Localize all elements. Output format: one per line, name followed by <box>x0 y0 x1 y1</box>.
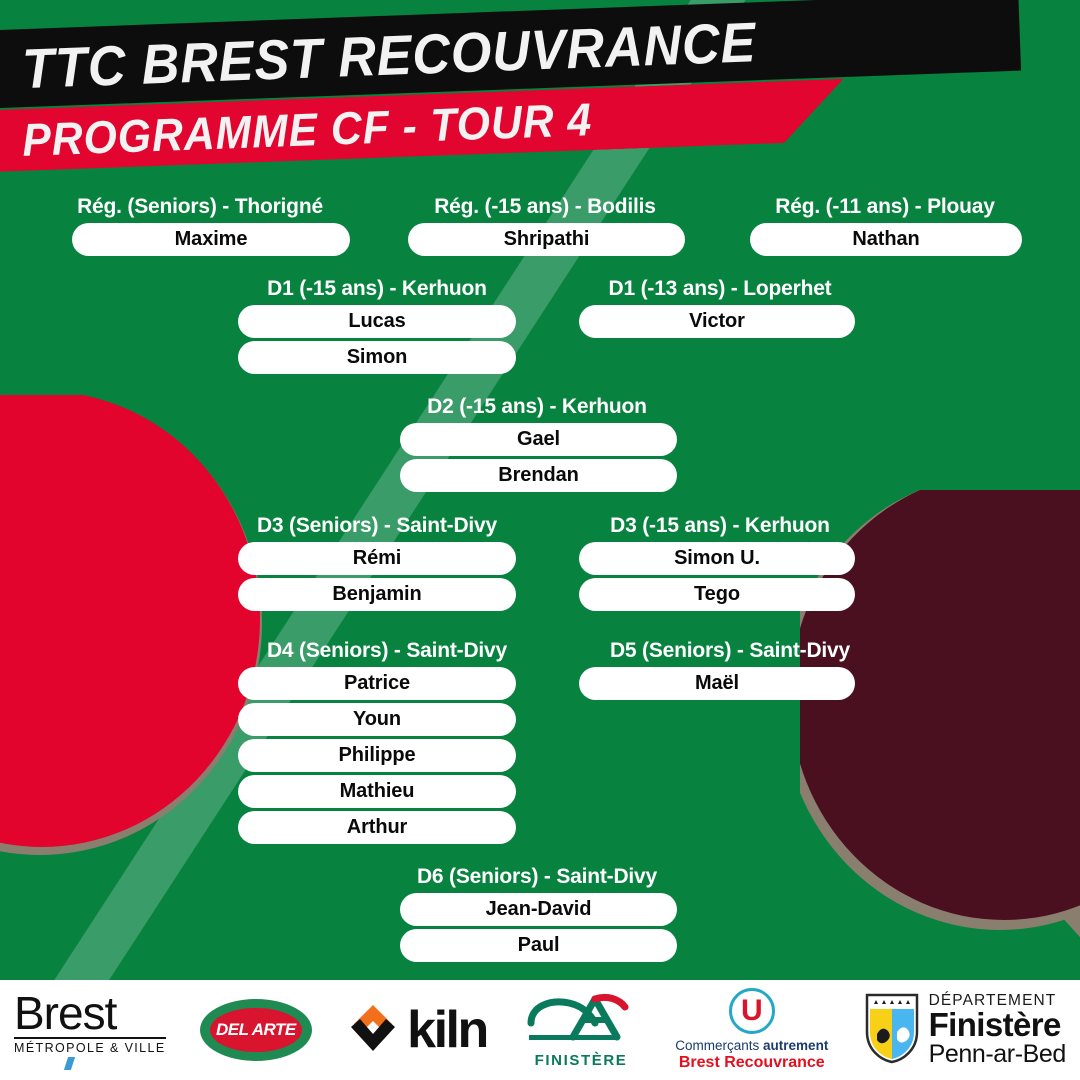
group-title: D1 (-15 ans) - Kerhuon <box>222 278 532 299</box>
sponsor-logo-kiln[interactable]: kiln <box>346 1000 487 1060</box>
finistere-wordmark: DÉPARTEMENT Finistère Penn-ar-Bed <box>929 993 1066 1068</box>
brest-wordmark: Brest <box>14 990 116 1036</box>
player-pill[interactable]: Benjamin <box>238 578 516 611</box>
group-d2-15ans-kerhuon: D2 (-15 ans) - Kerhuon Gael Brendan <box>382 396 692 495</box>
kiln-chevron-icon <box>346 1003 400 1057</box>
group-d5-seniors-saint-divy: D5 (Seniors) - Saint-Divy Maël <box>565 640 895 703</box>
player-pill[interactable]: Simon <box>238 341 516 374</box>
sponsor-logo-credit-agricole[interactable]: FINISTÈRE <box>521 993 641 1068</box>
player-pill[interactable]: Jean-David <box>400 893 677 926</box>
player-pill[interactable]: Brendan <box>400 459 677 492</box>
group-title: Rég. (-15 ans) - Bodilis <box>390 196 700 217</box>
super-u-tagline-bold: autrement <box>763 1038 828 1053</box>
player-pill[interactable]: Youn <box>238 703 516 736</box>
sponsor-bar: Brest MÉTROPOLE & VILLE DEL ARTE kiln <box>0 980 1080 1080</box>
group-title: D3 (Seniors) - Saint-Divy <box>222 515 532 536</box>
player-pill[interactable]: Victor <box>579 305 855 338</box>
finistere-line-name: Finistère <box>929 1008 1066 1042</box>
player-pill[interactable]: Mathieu <box>238 775 516 808</box>
group-reg-15ans-bodilis: Rég. (-15 ans) - Bodilis Shripathi <box>390 196 700 259</box>
group-d3-15ans-kerhuon: D3 (-15 ans) - Kerhuon Simon U. Tego <box>565 515 875 614</box>
finistere-line-breton: Penn-ar-Bed <box>929 1042 1066 1068</box>
player-pill[interactable]: Maël <box>579 667 855 700</box>
group-reg-seniors-thorigne: Rég. (Seniors) - Thorigné Maxime <box>50 196 350 259</box>
group-title: D2 (-15 ans) - Kerhuon <box>382 396 692 417</box>
credit-agricole-subtitle: FINISTÈRE <box>535 1053 628 1068</box>
player-pill[interactable]: Nathan <box>750 223 1022 256</box>
super-u-tagline: Commerçants autrement <box>675 1038 828 1054</box>
group-reg-11ans-plouay: Rég. (-11 ans) - Plouay Nathan <box>730 196 1040 259</box>
del-arte-oval-icon: DEL ARTE <box>200 999 312 1061</box>
sponsor-logo-super-u[interactable]: U Commerçants autrement Brest Recouvranc… <box>675 988 828 1072</box>
group-d3-seniors-saint-divy: D3 (Seniors) - Saint-Divy Rémi Benjamin <box>222 515 532 614</box>
player-pill[interactable]: Rémi <box>238 542 516 575</box>
finistere-coat-of-arms-icon <box>863 992 921 1069</box>
del-arte-wordmark: DEL ARTE <box>210 1008 302 1052</box>
sponsor-logo-departement-finistere[interactable]: DÉPARTEMENT Finistère Penn-ar-Bed <box>863 992 1066 1069</box>
group-d4-seniors-saint-divy: D4 (Seniors) - Saint-Divy Patrice Youn P… <box>222 640 552 847</box>
kiln-wordmark: kiln <box>407 1000 487 1060</box>
group-title: D3 (-15 ans) - Kerhuon <box>565 515 875 536</box>
super-u-location: Brest Recouvrance <box>679 1054 825 1072</box>
player-pill[interactable]: Arthur <box>238 811 516 844</box>
brest-subtitle: MÉTROPOLE & VILLE <box>14 1037 166 1055</box>
player-pill[interactable]: Lucas <box>238 305 516 338</box>
group-title: D1 (-13 ans) - Loperhet <box>565 278 875 299</box>
player-pill[interactable]: Patrice <box>238 667 516 700</box>
group-title: D4 (Seniors) - Saint-Divy <box>222 640 552 661</box>
player-pill[interactable]: Philippe <box>238 739 516 772</box>
sponsor-logo-del-arte[interactable]: DEL ARTE <box>200 999 312 1061</box>
credit-agricole-mark-icon <box>521 993 641 1051</box>
player-pill[interactable]: Maxime <box>72 223 350 256</box>
group-title: D5 (Seniors) - Saint-Divy <box>565 640 895 661</box>
super-u-tagline-light: Commerçants <box>675 1038 763 1053</box>
group-title: Rég. (Seniors) - Thorigné <box>50 196 350 217</box>
player-pill[interactable]: Simon U. <box>579 542 855 575</box>
player-pill[interactable]: Tego <box>579 578 855 611</box>
player-pill[interactable]: Shripathi <box>408 223 685 256</box>
group-title: Rég. (-11 ans) - Plouay <box>730 196 1040 217</box>
group-d1-15ans-kerhuon: D1 (-15 ans) - Kerhuon Lucas Simon <box>222 278 532 377</box>
super-u-letter: U <box>741 996 763 1026</box>
player-pill[interactable]: Gael <box>400 423 677 456</box>
super-u-circle-icon: U <box>729 988 775 1034</box>
sponsor-logo-brest-metropole[interactable]: Brest MÉTROPOLE & VILLE <box>14 990 166 1071</box>
brest-slash-icon <box>64 1057 75 1070</box>
group-d1-13ans-loperhet: D1 (-13 ans) - Loperhet Victor <box>565 278 875 341</box>
group-d6-seniors-saint-divy: D6 (Seniors) - Saint-Divy Jean-David Pau… <box>382 866 692 965</box>
player-pill[interactable]: Paul <box>400 929 677 962</box>
group-title: D6 (Seniors) - Saint-Divy <box>382 866 692 887</box>
poster-root: TTC BREST RECOUVRANCE PROGRAMME CF - TOU… <box>0 0 1080 1080</box>
